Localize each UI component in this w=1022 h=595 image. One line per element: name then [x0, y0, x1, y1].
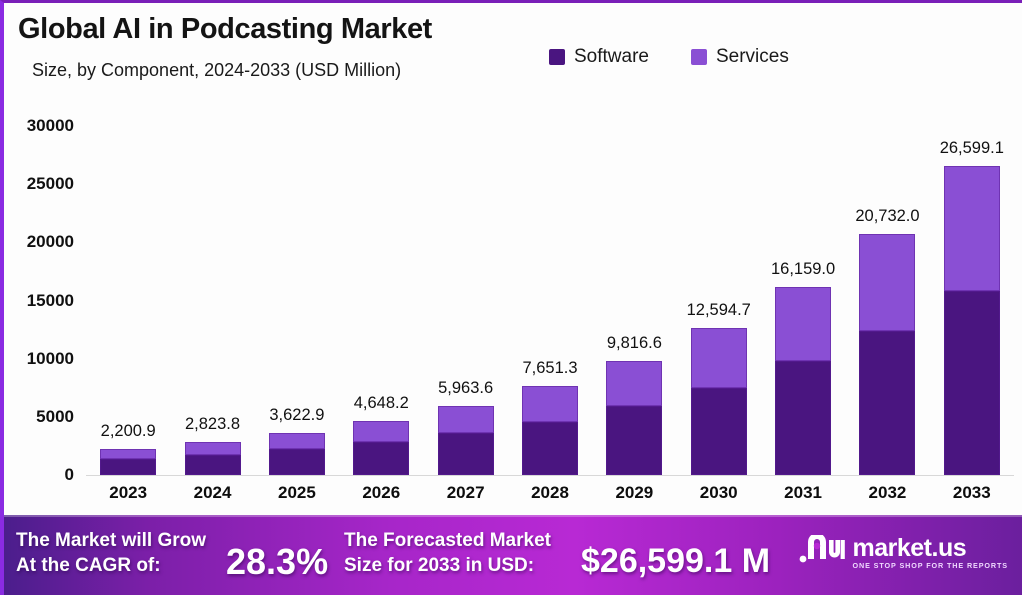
- bar-value-label: 3,622.9: [269, 406, 324, 425]
- bar-segment-software[interactable]: [859, 331, 915, 475]
- bottom-banner: The Market will Grow At the CAGR of: 28.…: [4, 515, 1022, 595]
- x-axis-tick-2026: 2026: [353, 483, 409, 503]
- bar-segment-services[interactable]: [185, 442, 241, 454]
- y-axis-tick: 10000: [27, 349, 74, 369]
- x-axis-tick-2024: 2024: [185, 483, 241, 503]
- bar-segment-services[interactable]: [522, 386, 578, 422]
- bar-segment-software[interactable]: [438, 433, 494, 475]
- bar-segment-services[interactable]: [944, 166, 1000, 292]
- bar-segment-services[interactable]: [691, 328, 747, 388]
- y-axis-tick: 0: [65, 465, 74, 485]
- bar-value-label: 26,599.1: [940, 139, 1004, 158]
- bar-segment-services[interactable]: [353, 421, 409, 442]
- bar-segment-services[interactable]: [859, 234, 915, 332]
- bar-segment-software[interactable]: [269, 449, 325, 475]
- bar-segment-services[interactable]: [438, 406, 494, 433]
- forecast-label: The Forecasted Market Size for 2033 in U…: [344, 528, 551, 578]
- cagr-label-line1: The Market will Grow: [16, 530, 206, 551]
- x-axis-tick-2031: 2031: [775, 483, 831, 503]
- bar-segment-software[interactable]: [606, 406, 662, 475]
- plot-area: 050001000015000200002500030000 2,200.92,…: [4, 95, 1022, 515]
- x-axis-tick-2025: 2025: [269, 483, 325, 503]
- page-title: Global AI in Podcasting Market: [18, 13, 432, 46]
- bar-stack: [691, 328, 747, 475]
- logo-name: market.us: [853, 535, 1009, 561]
- cagr-value: 28.3%: [226, 541, 328, 583]
- legend-swatch-software: [549, 49, 565, 65]
- bar-segment-software[interactable]: [100, 459, 156, 475]
- bar-value-label: 20,732.0: [855, 207, 919, 226]
- y-axis: 050001000015000200002500030000: [4, 95, 82, 475]
- market-us-logo-icon: [799, 535, 845, 570]
- x-axis-tick-2027: 2027: [438, 483, 494, 503]
- market-us-logo[interactable]: market.us ONE STOP SHOP FOR THE REPORTS: [799, 535, 1009, 570]
- bar-value-label: 12,594.7: [687, 301, 751, 320]
- bar-segment-software[interactable]: [944, 291, 1000, 475]
- bar-stack: [522, 386, 578, 475]
- logo-tagline: ONE STOP SHOP FOR THE REPORTS: [853, 561, 1009, 570]
- bar-stack: [606, 361, 662, 475]
- x-axis: 2023202420252026202720282029203020312032…: [86, 483, 1014, 511]
- bar-segment-software[interactable]: [522, 422, 578, 475]
- forecast-label-line1: The Forecasted Market: [344, 530, 551, 551]
- bar-segment-software[interactable]: [691, 388, 747, 475]
- legend-swatch-services: [691, 49, 707, 65]
- y-axis-tick: 20000: [27, 232, 74, 252]
- x-axis-tick-2023: 2023: [100, 483, 156, 503]
- bar-segment-software[interactable]: [185, 455, 241, 475]
- bar-segment-software[interactable]: [775, 361, 831, 475]
- legend-item-software: Software: [549, 46, 649, 68]
- x-axis-tick-2030: 2030: [691, 483, 747, 503]
- bar-stack: [944, 166, 1000, 475]
- forecast-label-line2: Size for 2033 in USD:: [344, 555, 534, 576]
- y-axis-tick: 25000: [27, 174, 74, 194]
- bar-stack: [353, 421, 409, 475]
- bar-segment-software[interactable]: [353, 442, 409, 475]
- x-axis-tick-2028: 2028: [522, 483, 578, 503]
- bar-segment-services[interactable]: [100, 449, 156, 458]
- cagr-label-line2: At the CAGR of:: [16, 555, 161, 576]
- x-axis-tick-2029: 2029: [606, 483, 662, 503]
- bar-stack: [185, 442, 241, 475]
- y-axis-tick: 15000: [27, 291, 74, 311]
- bar-stack: [100, 449, 156, 475]
- bar-stack: [269, 433, 325, 475]
- y-axis-tick: 5000: [36, 407, 74, 427]
- bar-segment-services[interactable]: [606, 361, 662, 406]
- x-axis-tick-2033: 2033: [944, 483, 1000, 503]
- legend-label: Services: [716, 46, 789, 68]
- y-axis-tick: 30000: [27, 116, 74, 136]
- bar-value-label: 4,648.2: [354, 394, 409, 413]
- bar-value-label: 9,816.6: [607, 334, 662, 353]
- bar-stack: [859, 234, 915, 475]
- chart-legend: SoftwareServices: [549, 46, 789, 68]
- bar-value-label: 2,823.8: [185, 415, 240, 434]
- bar-value-label: 16,159.0: [771, 260, 835, 279]
- axis-baseline: [86, 475, 1014, 476]
- chart-header: Global AI in Podcasting Market Size, by …: [4, 3, 1022, 95]
- bar-value-label: 5,963.6: [438, 379, 493, 398]
- bar-segment-services[interactable]: [775, 287, 831, 361]
- market-us-logo-text: market.us ONE STOP SHOP FOR THE REPORTS: [853, 535, 1009, 570]
- forecast-value: $26,599.1 M: [581, 542, 770, 581]
- legend-item-services: Services: [691, 46, 789, 68]
- bar-stack: [438, 406, 494, 475]
- x-axis-tick-2032: 2032: [859, 483, 915, 503]
- bar-stack: [775, 287, 831, 475]
- bar-series-container: 2,200.92,823.83,622.94,648.25,963.67,651…: [86, 95, 1014, 475]
- bar-value-label: 2,200.9: [101, 422, 156, 441]
- bar-segment-services[interactable]: [269, 433, 325, 449]
- legend-label: Software: [574, 46, 649, 68]
- chart-infographic: Global AI in Podcasting Market Size, by …: [0, 0, 1022, 595]
- bar-value-label: 7,651.3: [522, 359, 577, 378]
- chart-subtitle: Size, by Component, 2024-2033 (USD Milli…: [32, 60, 401, 81]
- cagr-label: The Market will Grow At the CAGR of:: [16, 528, 206, 578]
